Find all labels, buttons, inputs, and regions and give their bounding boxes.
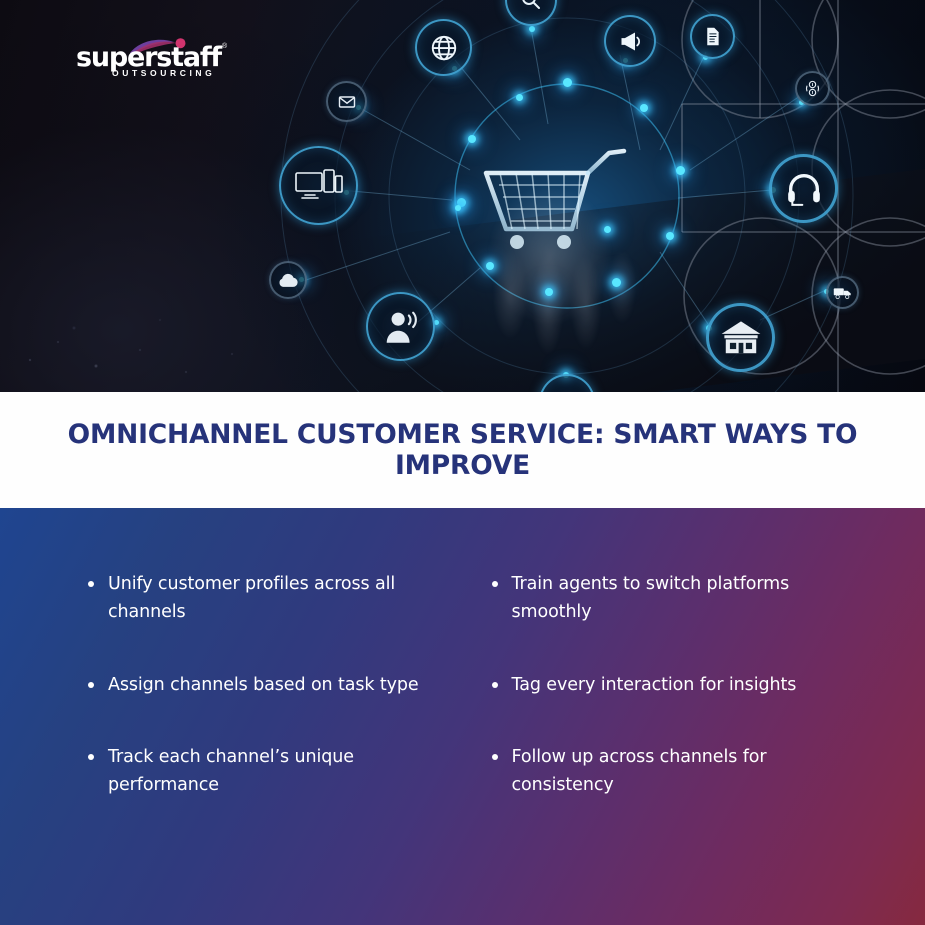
bullet-dot-icon	[492, 754, 498, 760]
list-item-label: Track each channel’s unique performance	[108, 743, 448, 800]
orbit-node	[640, 104, 648, 112]
list-item: Track each channel’s unique performance	[88, 743, 448, 800]
globe-icon	[415, 19, 472, 76]
tips-grid: Unify customer profiles across all chann…	[0, 508, 925, 925]
bullet-dot-icon	[492, 581, 498, 587]
logo-wordmark: superstaff	[76, 44, 221, 71]
list-item: Unify customer profiles across all chann…	[88, 570, 448, 627]
orbit-node	[545, 288, 553, 296]
voice-agent-icon	[366, 292, 435, 361]
money-exchange-icon	[795, 71, 830, 106]
cloud-icon	[269, 261, 307, 299]
brand-logo[interactable]: superstaff ® OUTSOURCING	[76, 40, 236, 80]
list-item-label: Tag every interaction for insights	[512, 671, 797, 699]
list-item: Tag every interaction for insights	[492, 671, 852, 699]
list-item: Train agents to switch platforms smoothl…	[492, 570, 852, 627]
logo-registered-mark: ®	[222, 43, 227, 50]
infographic-page: superstaff ® OUTSOURCING OMNICHANNEL CUS…	[0, 0, 925, 925]
megaphone-icon	[604, 15, 656, 67]
devices-icon	[279, 146, 358, 225]
link-spark	[529, 26, 535, 32]
bullet-dot-icon	[492, 682, 498, 688]
orbit-node	[468, 135, 476, 143]
shopping-cart-icon	[472, 145, 662, 275]
bullet-dot-icon	[88, 754, 94, 760]
orbit-node	[563, 78, 572, 87]
logo-tagline: OUTSOURCING	[112, 68, 215, 78]
list-item-label: Train agents to switch platforms smoothl…	[512, 570, 852, 627]
list-item: Follow up across channels for consistenc…	[492, 743, 852, 800]
left-column: Unify customer profiles across all chann…	[88, 570, 460, 844]
store-icon	[706, 303, 775, 372]
bullet-dot-icon	[88, 581, 94, 587]
list-item-label: Unify customer profiles across all chann…	[108, 570, 448, 627]
list-item: Assign channels based on task type	[88, 671, 448, 699]
orbit-node	[676, 166, 685, 175]
orbit-node	[612, 278, 621, 287]
hero-image: superstaff ® OUTSOURCING	[0, 0, 925, 392]
bullet-dot-icon	[88, 682, 94, 688]
headset-icon	[769, 154, 838, 223]
orbit-node	[516, 94, 523, 101]
page-title: OMNICHANNEL CUSTOMER SERVICE: SMART WAYS…	[48, 419, 877, 482]
right-column: Train agents to switch platforms smoothl…	[492, 570, 864, 844]
email-icon	[326, 81, 367, 122]
delivery-truck-icon	[826, 276, 859, 309]
list-item-label: Follow up across channels for consistenc…	[512, 743, 852, 800]
list-item-label: Assign channels based on task type	[108, 671, 419, 699]
orbit-node	[666, 232, 674, 240]
tips-panel: Unify customer profiles across all chann…	[0, 508, 925, 925]
document-icon	[690, 14, 735, 59]
link-spark	[455, 205, 461, 211]
title-band: OMNICHANNEL CUSTOMER SERVICE: SMART WAYS…	[0, 392, 925, 508]
